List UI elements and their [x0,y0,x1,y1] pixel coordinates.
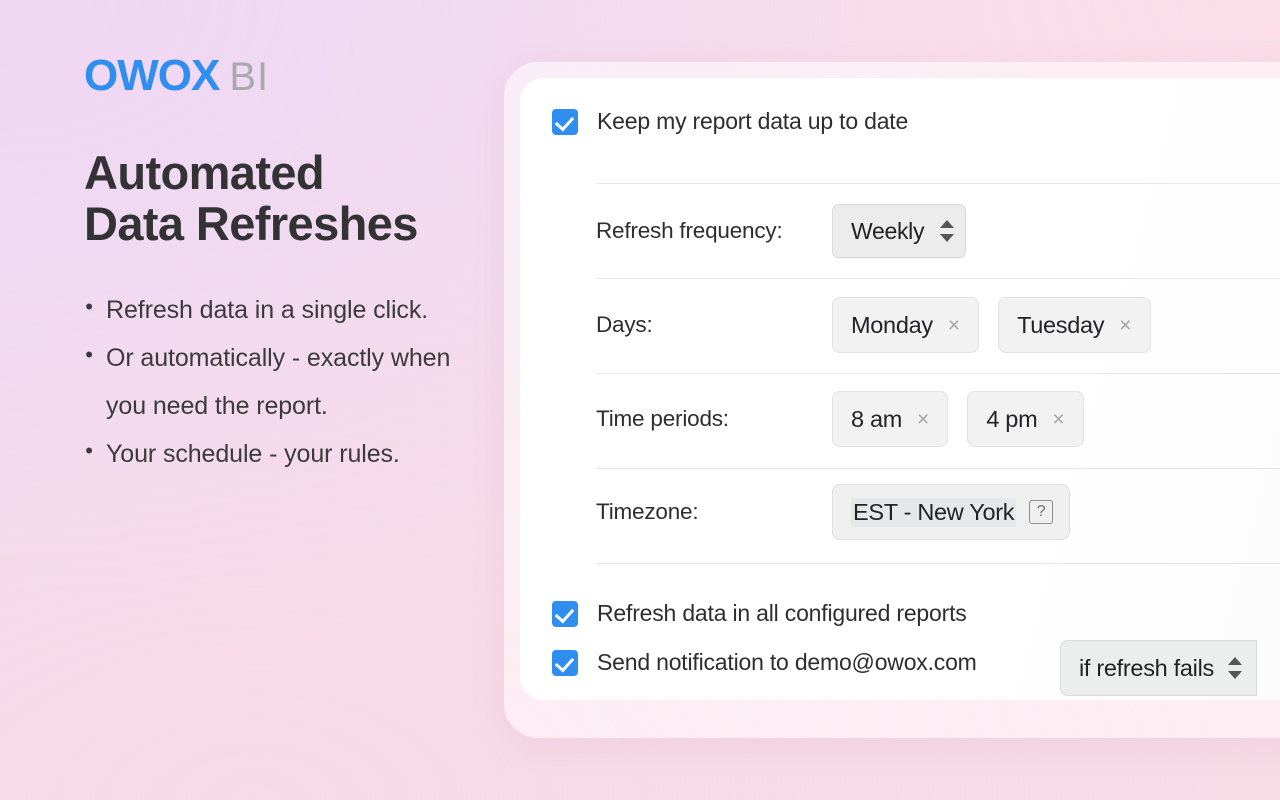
bullet-dot-icon: • [84,286,94,328]
notify-condition-select[interactable]: if refresh fails [1060,640,1257,696]
divider [596,183,1280,184]
timezone-row: Timezone: EST - New York ? [596,487,1070,537]
time-periods-row: Time periods: 8 am × 4 pm × [596,394,1084,444]
time-periods-label: Time periods: [596,406,832,432]
divider [596,278,1280,279]
divider [596,563,1280,564]
stepper-arrows-icon[interactable] [940,218,954,244]
page-title-line-2: Data Refreshes [84,199,484,250]
send-notification-label: Send notification to demo@owox.com [597,649,977,676]
day-chip-monday[interactable]: Monday × [832,297,979,353]
divider [596,373,1280,374]
list-item: • Or automatically - exactly when you ne… [84,334,484,431]
schedule-settings-card: Keep my report data up to date Refresh f… [520,78,1280,700]
time-chip-8am-label: 8 am [851,406,902,433]
page-title-line-1: Automated [84,148,484,199]
keep-up-to-date-label: Keep my report data up to date [597,108,908,135]
brand-logo-bi: BI [229,57,269,97]
day-chip-monday-label: Monday [851,312,933,339]
timezone-label: Timezone: [596,499,832,525]
keep-up-to-date-row[interactable]: Keep my report data up to date [552,108,908,135]
refresh-frequency-select[interactable]: Weekly [832,204,966,258]
notify-condition-value: if refresh fails [1079,655,1214,682]
refresh-frequency-label: Refresh frequency: [596,218,832,244]
list-item-label: Or automatically - exactly when you need… [106,334,451,431]
feature-bullet-list: • Refresh data in a single click. • Or a… [84,286,484,479]
day-chip-tuesday[interactable]: Tuesday × [998,297,1150,353]
list-item: • Your schedule - your rules. [84,430,484,478]
bullet-dot-icon: • [84,430,94,472]
send-notification-row[interactable]: Send notification to demo@owox.com [552,649,977,676]
page-title: Automated Data Refreshes [84,148,484,250]
list-item-label: Refresh data in a single click. [106,286,428,334]
hero-panel: OWOX BI Automated Data Refreshes • Refre… [84,54,484,479]
time-chip-8am[interactable]: 8 am × [832,391,948,447]
checkbox-send-notification[interactable] [552,650,578,676]
bullet-dot-icon: • [84,334,94,376]
refresh-frequency-value: Weekly [851,218,924,245]
brand-logo: OWOX BI [84,54,484,100]
divider [596,468,1280,469]
close-icon[interactable]: × [948,315,960,336]
close-icon[interactable]: × [917,409,929,430]
close-icon[interactable]: × [1119,315,1131,336]
checkbox-refresh-all-reports[interactable] [552,601,578,627]
refresh-frequency-row: Refresh frequency: Weekly [596,206,966,256]
stepper-arrows-icon[interactable] [1228,655,1242,681]
refresh-all-reports-label: Refresh data in all configured reports [597,600,967,627]
days-row: Days: Monday × Tuesday × [596,300,1151,350]
refresh-all-reports-row[interactable]: Refresh data in all configured reports [552,600,967,627]
timezone-input[interactable]: EST - New York ? [832,484,1070,540]
timezone-value: EST - New York [851,498,1016,527]
list-item: • Refresh data in a single click. [84,286,484,334]
time-chip-4pm-label: 4 pm [986,406,1037,433]
close-icon[interactable]: × [1052,409,1064,430]
day-chip-tuesday-label: Tuesday [1017,312,1104,339]
help-icon[interactable]: ? [1029,500,1053,524]
brand-logo-owox: OWOX [84,54,219,98]
days-label: Days: [596,312,832,338]
time-chip-4pm[interactable]: 4 pm × [967,391,1083,447]
list-item-label: Your schedule - your rules. [106,430,400,478]
checkbox-keep-up-to-date[interactable] [552,109,578,135]
